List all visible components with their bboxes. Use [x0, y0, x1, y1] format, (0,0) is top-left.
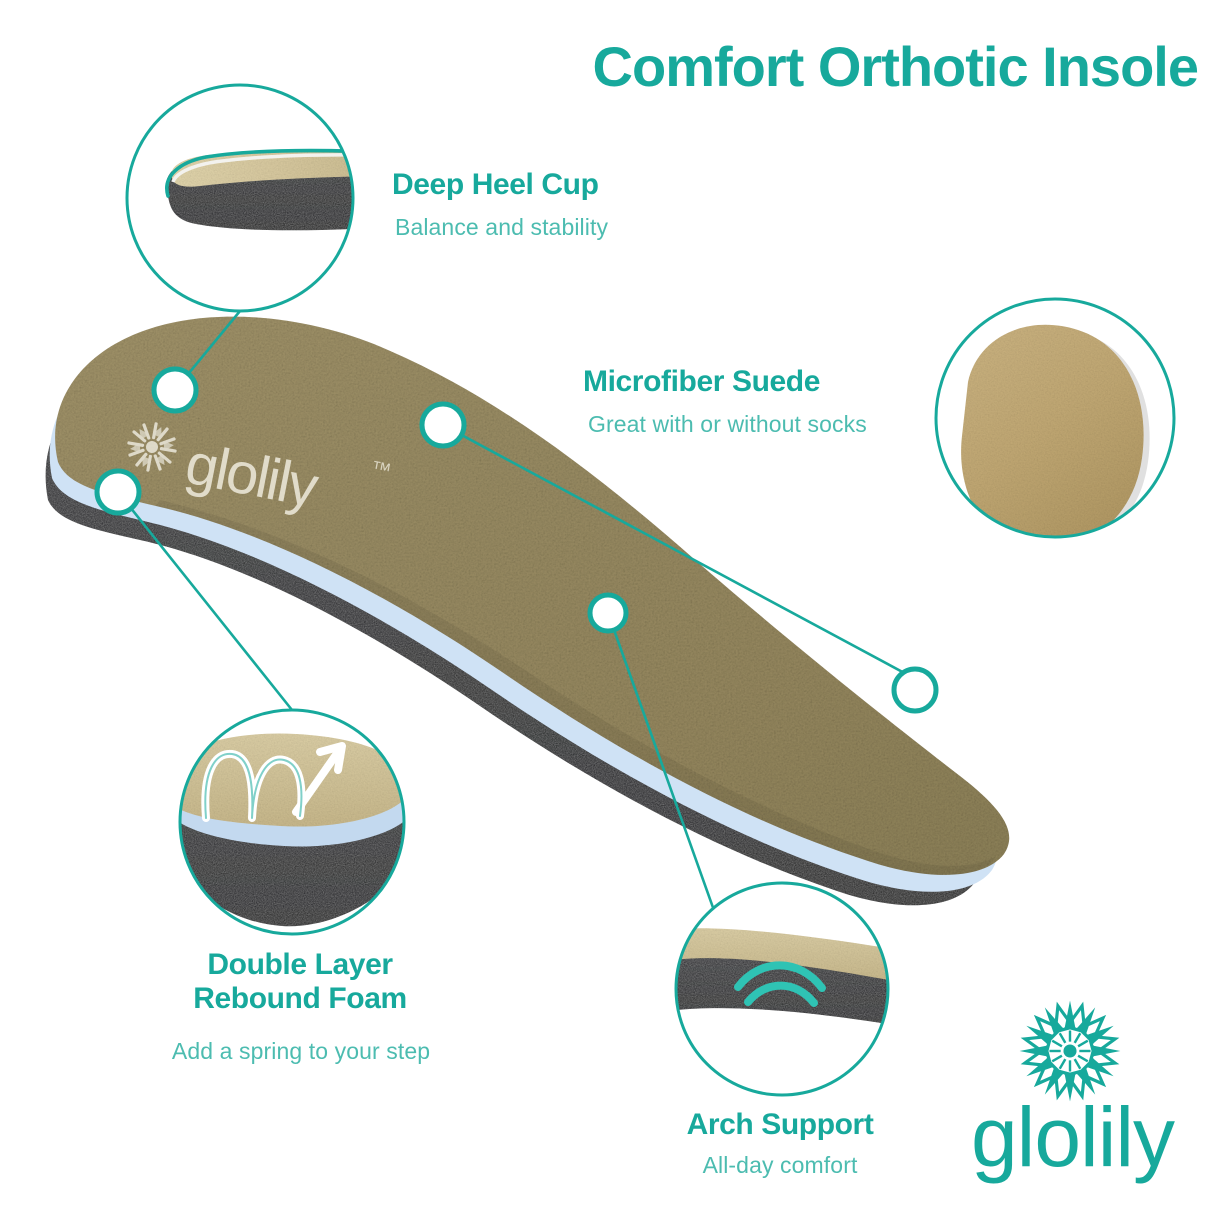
connector-suede [443, 425, 936, 690]
anchor-dot-heel [154, 369, 196, 411]
detail-circle-microfiber-suede [936, 299, 1174, 552]
feature-subtitle-deep-heel-cup: Balance and stability [395, 214, 608, 240]
anchor-dot-arch [590, 595, 626, 631]
foam-blue-layer [164, 755, 414, 846]
suede-swatch-shadow [967, 329, 1150, 552]
feature-title-deep-heel-cup: Deep Heel Cup [392, 168, 599, 202]
arch-arcs-icon [738, 965, 822, 1003]
feature-subtitle-double-layer-rebound-foam: Add a spring to your step [142, 1038, 460, 1064]
arch-tan-band [660, 928, 900, 984]
detail-ring-arch [676, 883, 888, 1095]
detail-circle-arch-support [660, 883, 900, 1095]
anchor-dot-suede [422, 404, 464, 446]
insole-brand-emboss: glolily ™ [123, 418, 393, 520]
insole-suede-shadow [156, 500, 996, 875]
suede-swatch [961, 325, 1144, 548]
detail-circle-deep-heel-cup [127, 85, 400, 311]
foam-tan-layer [160, 734, 410, 827]
detail-ring-foam [180, 710, 404, 934]
anchor-dot-suede-far [894, 669, 936, 711]
bounce-arrow-icon [205, 746, 342, 818]
heel-white-edge [173, 155, 400, 182]
feature-title-double-layer-rebound-foam: Double Layer Rebound Foam [150, 948, 450, 1015]
connector-heel [175, 311, 240, 390]
insole-logo-trademark: ™ [369, 457, 393, 482]
insole-logo-text: glolily [181, 431, 324, 520]
feature-subtitle-microfiber-suede: Great with or without socks [588, 411, 867, 437]
feature-title-microfiber-suede: Microfiber Suede [583, 365, 820, 399]
brand-wordmark: glolily [940, 1095, 1205, 1179]
bounce-arrow-icon-accent [205, 754, 301, 818]
anchor-dot-foam [97, 471, 139, 513]
connector-foam [118, 492, 292, 710]
detail-ring-suede [936, 299, 1174, 537]
heel-foam-wedge [166, 153, 400, 231]
feature-subtitle-arch-support: All-day comfort [645, 1152, 915, 1178]
detail-circle-rebound-foam [160, 710, 414, 934]
heel-tan-top [171, 150, 400, 186]
connector-arch [608, 613, 716, 916]
insole-suede-top [55, 317, 1009, 875]
feature-title-arch-support: Arch Support [645, 1108, 915, 1142]
infographic-canvas: Comfort Orthotic Insole [0, 0, 1214, 1214]
detail-ring-heel [127, 85, 353, 311]
foam-black-layer [168, 775, 414, 926]
arch-black-body [660, 958, 900, 1026]
page-title: Comfort Orthotic Insole [0, 34, 1198, 99]
brand-lockup: glolily [940, 995, 1205, 1210]
callout-connectors [118, 311, 936, 916]
heel-cup-contour-highlight [167, 150, 400, 196]
insole-body: glolily ™ [46, 317, 1010, 906]
insole-flower-icon [123, 418, 181, 476]
